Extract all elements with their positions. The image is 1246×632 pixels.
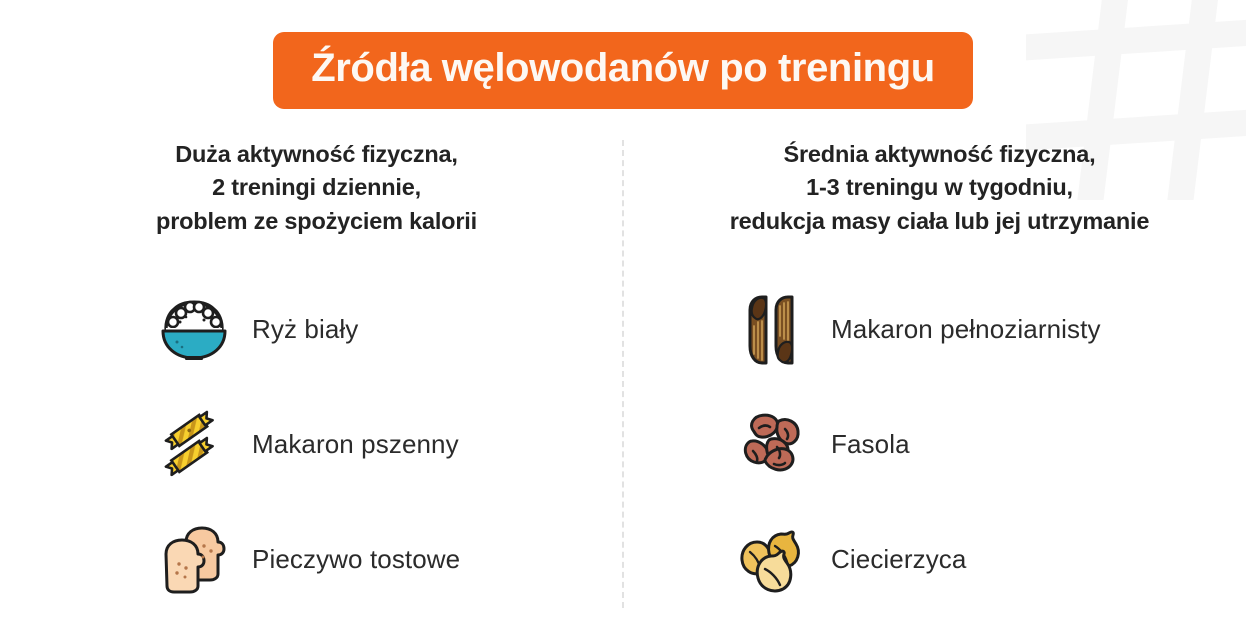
- list-item-label: Makaron pszenny: [252, 429, 459, 460]
- list-item: Pieczywo tostowe: [152, 502, 593, 617]
- heading-line: Duża aktywność fizyczna,: [40, 138, 593, 171]
- list-item-label: Pieczywo tostowe: [252, 544, 460, 575]
- wheat-pasta-icon: [152, 402, 236, 488]
- chickpeas-icon: [731, 517, 815, 603]
- list-item-label: Makaron pełnoziarnisty: [831, 314, 1101, 345]
- list-item-label: Ciecierzyca: [831, 544, 966, 575]
- list-item: Makaron pełnoziarnisty: [731, 272, 1216, 387]
- food-list-medium-activity: Makaron pełnoziarnisty: [663, 272, 1216, 617]
- heading-line: 2 treningi dziennie,: [40, 171, 593, 204]
- food-list-high-activity: Ryż biały: [40, 272, 593, 617]
- title-banner-wrap: Źródła węlowodanów po treningu: [0, 32, 1246, 109]
- heading-line: 1-3 treningu w tygodniu,: [663, 171, 1216, 204]
- heading-line: redukcja masy ciała lub jej utrzymanie: [663, 205, 1216, 238]
- column-heading-medium-activity: Średnia aktywność fizyczna, 1-3 treningu…: [663, 138, 1216, 238]
- column-high-activity: Duża aktywność fizyczna, 2 treningi dzie…: [0, 138, 633, 618]
- list-item: Makaron pszenny: [152, 387, 593, 502]
- column-medium-activity: Średnia aktywność fizyczna, 1-3 treningu…: [633, 138, 1246, 618]
- column-heading-high-activity: Duża aktywność fizyczna, 2 treningi dzie…: [40, 138, 593, 238]
- list-item: Ryż biały: [152, 272, 593, 387]
- wholegrain-penne-icon: [731, 287, 815, 373]
- toast-bread-icon: [152, 517, 236, 603]
- page-title: Źródła węlowodanów po treningu: [307, 46, 939, 91]
- list-item-label: Fasola: [831, 429, 910, 460]
- heading-line: Średnia aktywność fizyczna,: [663, 138, 1216, 171]
- list-item: Fasola: [731, 387, 1216, 502]
- kidney-beans-icon: [731, 402, 815, 488]
- column-divider: [622, 140, 624, 608]
- rice-bowl-icon: [152, 287, 236, 373]
- list-item: Ciecierzyca: [731, 502, 1216, 617]
- heading-line: problem ze spożyciem kalorii: [40, 205, 593, 238]
- title-banner: Źródła węlowodanów po treningu: [273, 32, 973, 109]
- list-item-label: Ryż biały: [252, 314, 358, 345]
- infographic-page: Źródła węlowodanów po treningu Duża akty…: [0, 0, 1246, 632]
